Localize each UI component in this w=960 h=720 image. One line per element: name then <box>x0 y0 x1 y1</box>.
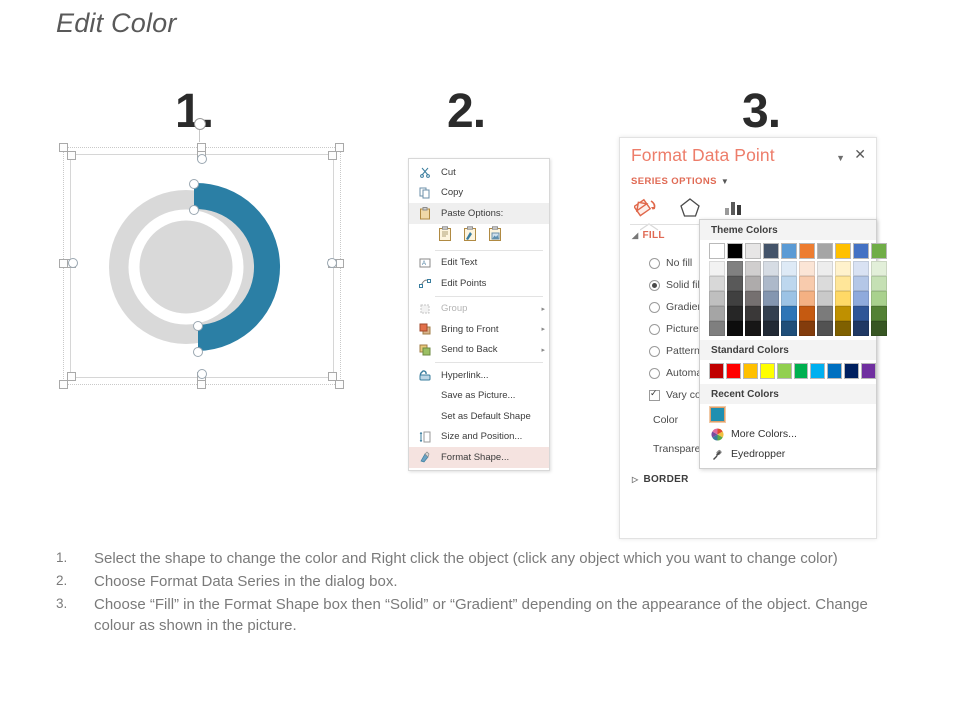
menu-arrow: ▸ <box>535 305 545 313</box>
standard-color-swatch[interactable] <box>810 363 825 379</box>
series-options-label: SERIES OPTIONS <box>631 176 717 187</box>
color-swatch[interactable] <box>709 306 725 321</box>
color-swatch[interactable] <box>763 276 779 291</box>
instructions-list: 1. Select the shape to change the color … <box>56 548 896 638</box>
instruction-number: 1. <box>56 548 94 569</box>
resize-handle-se[interactable] <box>335 380 344 389</box>
color-swatch[interactable] <box>745 276 761 291</box>
radio-icon-selected <box>649 280 660 291</box>
menu-separator <box>435 296 543 297</box>
size-position-icon <box>415 430 435 444</box>
menu-item-edit-text[interactable]: A Edit Text <box>409 253 549 274</box>
standard-color-swatch[interactable] <box>794 363 809 379</box>
edit-points-icon <box>415 276 435 290</box>
edit-text-icon: A <box>415 256 435 270</box>
menu-item-cut[interactable]: Cut <box>409 162 549 183</box>
standard-color-swatch[interactable] <box>760 363 775 379</box>
plot-handle-s[interactable] <box>197 369 207 379</box>
theme-color-column <box>871 243 887 336</box>
resize-handle-s[interactable] <box>197 380 206 389</box>
color-swatch[interactable] <box>853 291 869 306</box>
fill-section-label: FILL <box>642 230 664 241</box>
theme-colors-header: Theme Colors <box>700 220 876 240</box>
menu-item-label: Format Shape... <box>435 452 535 463</box>
option-label: No fill <box>666 257 692 269</box>
color-swatch[interactable] <box>817 261 833 276</box>
rotation-handle[interactable] <box>194 118 206 130</box>
send-to-back-icon <box>415 343 435 357</box>
theme-color-column <box>799 243 815 336</box>
color-swatch[interactable] <box>835 261 851 276</box>
color-swatch[interactable] <box>709 276 725 291</box>
segment-handle-top[interactable] <box>189 179 199 189</box>
color-swatch[interactable] <box>781 276 797 291</box>
pane-title: Format Data Point <box>631 145 775 166</box>
menu-item-label: Set as Default Shape <box>435 411 535 422</box>
instruction-number: 2. <box>56 571 94 592</box>
menu-item-hyperlink[interactable]: Hyperlink... <box>409 365 549 386</box>
paste-picture-icon[interactable] <box>488 226 502 245</box>
menu-item-paste-options: Paste Options: <box>409 203 549 224</box>
checkbox-icon-checked <box>649 390 660 401</box>
color-swatch[interactable] <box>781 261 797 276</box>
slide-canvas: Edit Color 1. 2. 3. <box>0 0 960 720</box>
standard-colors-header: Standard Colors <box>700 340 876 360</box>
color-row-label: Color <box>653 414 678 426</box>
menu-item-label: Save as Picture... <box>435 390 535 401</box>
step-number-3: 3. <box>742 88 780 136</box>
color-swatch[interactable] <box>853 306 869 321</box>
color-swatch[interactable] <box>781 306 797 321</box>
standard-color-swatch[interactable] <box>844 363 859 379</box>
radio-solid-fill[interactable]: Solid fill <box>649 279 702 291</box>
standard-color-swatch[interactable] <box>861 363 876 379</box>
color-dropdown[interactable]: Theme Colors Standard Colors Recent Colo… <box>699 219 877 469</box>
color-swatch[interactable] <box>745 243 761 259</box>
recent-color-swatch[interactable] <box>710 407 725 422</box>
instruction-item: 2. Choose Format Data Series in the dial… <box>56 571 896 592</box>
eyedropper-label: Eyedropper <box>731 448 785 460</box>
standard-colors-row[interactable] <box>700 360 876 384</box>
color-swatch[interactable] <box>709 321 725 336</box>
instruction-number: 3. <box>56 594 94 636</box>
inner-handle-se[interactable] <box>328 372 337 381</box>
menu-separator <box>435 362 543 363</box>
color-swatch[interactable] <box>871 276 887 291</box>
radio-no-fill[interactable]: No fill <box>649 257 692 269</box>
selected-shape-panel <box>56 140 346 390</box>
menu-item-size-and-position[interactable]: Size and Position... <box>409 427 549 448</box>
color-swatch[interactable] <box>871 243 887 259</box>
color-swatch[interactable] <box>781 321 797 336</box>
series-options-dropdown[interactable]: SERIES OPTIONS▼ <box>631 176 729 187</box>
triangle-collapsed-icon: ▷ <box>632 475 643 484</box>
inner-handle-ne[interactable] <box>328 151 337 160</box>
segment-handle-bottom[interactable] <box>193 347 203 357</box>
clipboard-icon <box>415 206 435 220</box>
color-swatch[interactable] <box>763 291 779 306</box>
menu-arrow: ▸ <box>535 325 545 333</box>
border-section-label: BORDER <box>643 474 688 485</box>
fill-section-header[interactable]: ◢FILL <box>632 230 665 241</box>
color-swatch[interactable] <box>763 243 779 259</box>
group-icon <box>415 302 435 316</box>
color-swatch[interactable] <box>745 321 761 336</box>
menu-item-label: Bring to Front <box>435 324 535 335</box>
chevron-down-icon[interactable]: ▼ <box>836 153 845 163</box>
instruction-text: Choose Format Data Series in the dialog … <box>94 571 896 592</box>
paste-merge-icon[interactable] <box>463 226 477 245</box>
instruction-item: 3. Choose “Fill” in the Format Shape box… <box>56 594 896 636</box>
copy-icon <box>415 186 435 200</box>
triangle-expanded-icon: ◢ <box>632 231 642 240</box>
color-swatch[interactable] <box>835 321 851 336</box>
standard-color-swatch[interactable] <box>777 363 792 379</box>
theme-color-column <box>763 243 779 336</box>
menu-separator <box>435 250 543 251</box>
color-swatch[interactable] <box>817 276 833 291</box>
color-swatch[interactable] <box>871 321 887 336</box>
color-swatch[interactable] <box>817 291 833 306</box>
color-swatch[interactable] <box>835 291 851 306</box>
color-swatch[interactable] <box>799 243 815 259</box>
color-swatch[interactable] <box>835 306 851 321</box>
border-section-header[interactable]: ▷BORDER <box>632 474 689 485</box>
color-swatch[interactable] <box>853 243 869 259</box>
menu-item-group: Group ▸ <box>409 299 549 320</box>
menu-item-label: Copy <box>435 187 535 198</box>
color-swatch[interactable] <box>817 306 833 321</box>
color-swatch[interactable] <box>871 261 887 276</box>
radio-icon <box>649 302 660 313</box>
page-title: Edit Color <box>56 8 177 39</box>
color-swatch[interactable] <box>799 261 815 276</box>
theme-color-column <box>835 243 851 336</box>
radio-icon <box>649 368 660 379</box>
color-swatch[interactable] <box>799 321 815 336</box>
eyedropper-icon <box>710 447 724 461</box>
color-swatch[interactable] <box>799 291 815 306</box>
svg-text:A: A <box>422 261 426 267</box>
color-swatch[interactable] <box>727 261 743 276</box>
instruction-item: 1. Select the shape to change the color … <box>56 548 896 569</box>
hyperlink-icon <box>415 368 435 382</box>
plot-handle-w[interactable] <box>68 258 78 268</box>
color-swatch[interactable] <box>799 306 815 321</box>
color-swatch[interactable] <box>853 261 869 276</box>
standard-color-swatch[interactable] <box>709 363 724 379</box>
menu-item-label: Hyperlink... <box>435 370 535 381</box>
color-wheel-icon <box>710 427 724 441</box>
menu-item-label: Edit Points <box>435 278 535 289</box>
none-icon <box>415 389 435 403</box>
standard-color-swatch[interactable] <box>743 363 758 379</box>
radio-icon <box>649 258 660 269</box>
color-swatch[interactable] <box>727 321 743 336</box>
color-swatch[interactable] <box>709 291 725 306</box>
inner-handle-sw[interactable] <box>67 372 76 381</box>
color-swatch[interactable] <box>745 306 761 321</box>
resize-handle-sw[interactable] <box>59 380 68 389</box>
plot-handle-e[interactable] <box>327 258 337 268</box>
menu-item-edit-points[interactable]: Edit Points <box>409 273 549 294</box>
more-colors-label: More Colors... <box>731 428 797 440</box>
color-swatch[interactable] <box>871 291 887 306</box>
segment-handle-inner-bottom[interactable] <box>193 321 203 331</box>
standard-color-swatch[interactable] <box>827 363 842 379</box>
menu-item-copy[interactable]: Copy <box>409 183 549 204</box>
menu-item-bring-to-front[interactable]: Bring to Front ▸ <box>409 319 549 340</box>
color-swatch[interactable] <box>727 291 743 306</box>
paste-keep-source-icon[interactable] <box>438 226 452 245</box>
menu-item-set-as-default-shape[interactable]: Set as Default Shape <box>409 406 549 427</box>
format-shape-icon <box>415 450 435 464</box>
color-swatch[interactable] <box>835 243 851 259</box>
standard-color-swatch[interactable] <box>726 363 741 379</box>
chevron-down-icon: ▼ <box>717 177 729 186</box>
menu-arrow: ▸ <box>535 346 545 354</box>
donut-chart-svg <box>94 167 294 367</box>
theme-color-column <box>781 243 797 336</box>
color-swatch[interactable] <box>835 276 851 291</box>
theme-color-column <box>853 243 869 336</box>
radio-icon <box>649 324 660 335</box>
more-colors-item[interactable]: More Colors... <box>700 424 876 444</box>
color-swatch[interactable] <box>727 276 743 291</box>
color-swatch[interactable] <box>727 306 743 321</box>
menu-item-label: Edit Text <box>435 257 535 268</box>
plot-handle-n[interactable] <box>197 154 207 164</box>
scissors-icon <box>415 165 435 179</box>
menu-item-label: Send to Back <box>435 344 535 355</box>
menu-item-save-as-picture[interactable]: Save as Picture... <box>409 386 549 407</box>
color-swatch[interactable] <box>799 276 815 291</box>
color-swatch[interactable] <box>709 243 725 259</box>
theme-colors-grid[interactable] <box>700 240 876 340</box>
color-swatch[interactable] <box>763 321 779 336</box>
menu-item-format-shape[interactable]: Format Shape... <box>409 447 549 468</box>
recent-colors-row[interactable] <box>700 404 876 424</box>
menu-item-send-to-back[interactable]: Send to Back ▸ <box>409 340 549 361</box>
context-menu[interactable]: Cut Copy Paste Options: <box>408 158 550 471</box>
menu-item-label: Size and Position... <box>435 431 535 442</box>
menu-item-label: Cut <box>435 167 535 178</box>
paste-options-row[interactable] <box>409 224 549 248</box>
theme-color-column <box>745 243 761 336</box>
color-swatch[interactable] <box>763 261 779 276</box>
step-number-2: 2. <box>447 88 485 136</box>
format-data-point-pane[interactable]: Format Data Point ▼ ✕ SERIES OPTIONS▼ <box>619 137 877 539</box>
recent-colors-header: Recent Colors <box>700 384 876 404</box>
color-swatch[interactable] <box>817 321 833 336</box>
menu-item-label: Group <box>435 303 535 314</box>
inner-handle-nw[interactable] <box>67 151 76 160</box>
close-icon[interactable]: ✕ <box>854 147 866 161</box>
theme-color-column <box>709 243 725 336</box>
theme-color-column <box>727 243 743 336</box>
none-icon <box>415 409 435 423</box>
color-swatch[interactable] <box>781 243 797 259</box>
step-number-1: 1. <box>175 88 213 136</box>
color-swatch[interactable] <box>817 243 833 259</box>
color-swatch[interactable] <box>745 261 761 276</box>
color-swatch[interactable] <box>709 261 725 276</box>
color-swatch[interactable] <box>781 291 797 306</box>
theme-color-column <box>817 243 833 336</box>
instruction-text: Select the shape to change the color and… <box>94 548 896 569</box>
radio-icon <box>649 346 660 357</box>
segment-handle-inner-top[interactable] <box>189 205 199 215</box>
menu-item-label: Paste Options: <box>435 208 535 219</box>
donut-chart[interactable] <box>94 167 294 367</box>
eyedropper-item[interactable]: Eyedropper <box>700 444 876 468</box>
option-label: Solid fill <box>666 279 702 291</box>
color-swatch[interactable] <box>853 276 869 291</box>
color-swatch[interactable] <box>727 243 743 259</box>
color-swatch[interactable] <box>853 321 869 336</box>
bring-to-front-icon <box>415 322 435 336</box>
instruction-text: Choose “Fill” in the Format Shape box th… <box>94 594 896 636</box>
color-swatch[interactable] <box>763 306 779 321</box>
color-swatch[interactable] <box>871 306 887 321</box>
color-swatch[interactable] <box>745 291 761 306</box>
